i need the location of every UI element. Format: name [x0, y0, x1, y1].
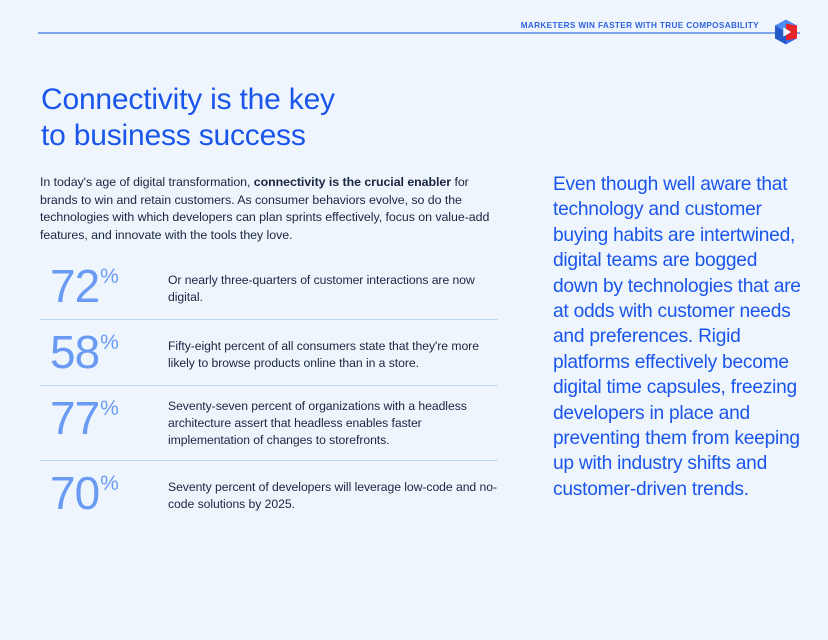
stat-percent-symbol: % — [100, 398, 119, 420]
brand-cube-logo-icon — [772, 18, 800, 46]
page-title: Connectivity is the key to business succ… — [41, 82, 521, 154]
intro-text-bold: connectivity is the crucial enabler — [254, 175, 451, 189]
intro-text-part-1: In today's age of digital transformation… — [40, 175, 254, 189]
stat-number: 70 — [50, 471, 99, 515]
stat-description: Seventy-seven percent of organizations w… — [168, 396, 498, 449]
statistics-list: 72% Or nearly three-quarters of customer… — [40, 264, 498, 527]
stat-figure: 77% — [40, 396, 168, 440]
stat-figure: 72% — [40, 264, 168, 308]
stat-number: 58 — [50, 330, 99, 374]
stat-percent-symbol: % — [100, 473, 119, 495]
stat-figure: 58% — [40, 330, 168, 374]
stat-figure: 70% — [40, 471, 168, 515]
stat-row: 70% Seventy percent of developers will l… — [40, 471, 498, 527]
left-column: In today's age of digital transformation… — [40, 174, 498, 537]
page-title-line-1: Connectivity is the key — [41, 82, 521, 118]
stat-row: 58% Fifty-eight percent of all consumers… — [40, 330, 498, 386]
slide-page: MARKETERS WIN FASTER WITH TRUE COMPOSABI… — [0, 0, 828, 640]
page-title-line-2: to business success — [41, 118, 521, 154]
header-kicker-text: MARKETERS WIN FASTER WITH TRUE COMPOSABI… — [515, 21, 764, 31]
intro-paragraph: In today's age of digital transformation… — [40, 174, 492, 244]
header-divider-rule — [38, 32, 800, 34]
stat-description: Or nearly three-quarters of customer int… — [168, 264, 498, 306]
stat-row: 77% Seventy-seven percent of organizatio… — [40, 396, 498, 461]
pull-quote: Even though well aware that technology a… — [553, 172, 803, 502]
stat-row: 72% Or nearly three-quarters of customer… — [40, 264, 498, 320]
stat-description: Fifty-eight percent of all consumers sta… — [168, 330, 498, 372]
stat-number: 77 — [50, 396, 99, 440]
stat-number: 72 — [50, 264, 99, 308]
stat-description: Seventy percent of developers will lever… — [168, 471, 498, 513]
page-header: MARKETERS WIN FASTER WITH TRUE COMPOSABI… — [38, 10, 800, 44]
stat-percent-symbol: % — [100, 332, 119, 354]
stat-percent-symbol: % — [100, 266, 119, 288]
